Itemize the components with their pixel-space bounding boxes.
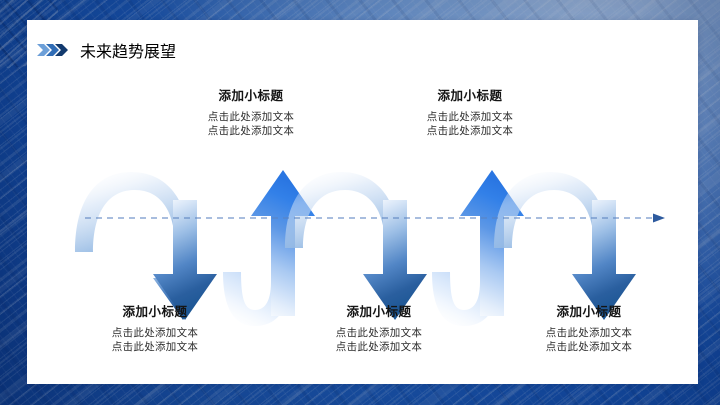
block-heading: 添加小标题: [370, 85, 570, 104]
block-heading: 添加小标题: [279, 301, 479, 320]
text-block-top-left[interactable]: 添加小标题 点击此处添加文本 点击此处添加文本: [151, 85, 351, 139]
text-block-top-right[interactable]: 添加小标题 点击此处添加文本 点击此处添加文本: [370, 85, 570, 139]
block-line-1: 点击此处添加文本: [55, 327, 255, 341]
spiral-down-arrow: [494, 172, 636, 320]
block-line-1: 点击此处添加文本: [279, 327, 479, 341]
block-line-2: 点击此处添加文本: [151, 125, 351, 139]
text-block-bottom-center[interactable]: 添加小标题 点击此处添加文本 点击此处添加文本: [279, 301, 479, 355]
text-block-bottom-left[interactable]: 添加小标题 点击此处添加文本 点击此处添加文本: [55, 301, 255, 355]
block-line-2: 点击此处添加文本: [55, 341, 255, 355]
block-line-2: 点击此处添加文本: [370, 125, 570, 139]
block-line-2: 点击此处添加文本: [279, 341, 479, 355]
block-line-1: 点击此处添加文本: [370, 111, 570, 125]
block-line-2: 点击此处添加文本: [489, 341, 689, 355]
block-heading: 添加小标题: [151, 85, 351, 104]
block-heading: 添加小标题: [55, 301, 255, 320]
content-card: 未来趋势展望: [27, 20, 698, 384]
block-heading: 添加小标题: [489, 301, 689, 320]
text-block-bottom-right[interactable]: 添加小标题 点击此处添加文本 点击此处添加文本: [489, 301, 689, 355]
spiral-down-arrow: [285, 172, 427, 320]
block-line-1: 点击此处添加文本: [489, 327, 689, 341]
block-line-1: 点击此处添加文本: [151, 111, 351, 125]
